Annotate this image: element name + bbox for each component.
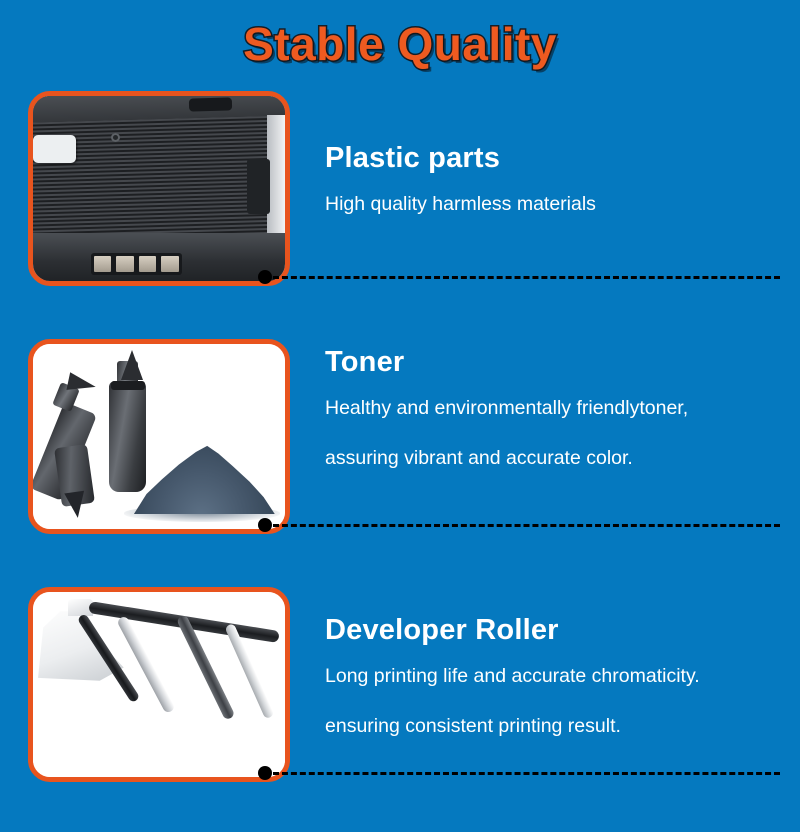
toner-cartridge-plastic-housing-photo [33, 96, 285, 281]
feature-description-line: Healthy and environmentally friendlytone… [325, 399, 800, 419]
feature-description-line: High quality harmless materials [325, 195, 800, 215]
cartridge-contact-strip [91, 253, 182, 275]
feature-copy: Developer Roller Long printing life and … [290, 584, 800, 736]
toner-bottle-ring [111, 381, 145, 390]
feature-row-toner: Toner Healthy and environmentally friend… [0, 336, 800, 584]
cartridge-handle-slot [189, 97, 232, 111]
connector-dash [273, 772, 780, 775]
feature-row-plastic-parts: Plastic parts High quality harmless mate… [0, 88, 800, 336]
developer-rollers-photo [33, 592, 285, 777]
feature-description-line: assuring vibrant and accurate color. [325, 449, 800, 469]
feature-row-developer-roller: Developer Roller Long printing life and … [0, 584, 800, 832]
feature-copy: Plastic parts High quality harmless mate… [290, 88, 800, 215]
feature-description-line: ensuring consistent printing result. [325, 717, 800, 737]
feature-title: Toner [325, 348, 800, 377]
connector-line [258, 270, 780, 284]
feature-thumbnail-frame[interactable] [28, 339, 290, 534]
feature-title: Developer Roller [325, 616, 800, 645]
connector-line [258, 766, 780, 780]
cartridge-side-tab [247, 159, 270, 215]
toner-bottle-lower-nozzle [64, 491, 87, 520]
feature-thumbnail-frame[interactable] [28, 91, 290, 286]
connector-line [258, 518, 780, 532]
toner-bottles-and-powder-photo [33, 344, 285, 529]
connector-dash [273, 276, 780, 279]
connector-dash [273, 524, 780, 527]
feature-copy: Toner Healthy and environmentally friend… [290, 336, 800, 468]
feature-title: Plastic parts [325, 144, 800, 173]
feature-list: Plastic parts High quality harmless mate… [0, 88, 800, 832]
page-title: Stable Quality [243, 17, 557, 71]
cartridge-label-sticker [33, 135, 76, 163]
toner-bottle-nozzle [121, 350, 143, 380]
feature-description-line: Long printing life and accurate chromati… [325, 667, 800, 687]
page-header: Stable Quality [0, 0, 800, 88]
feature-thumbnail-frame[interactable] [28, 587, 290, 782]
toner-bottle-upright [109, 381, 147, 492]
